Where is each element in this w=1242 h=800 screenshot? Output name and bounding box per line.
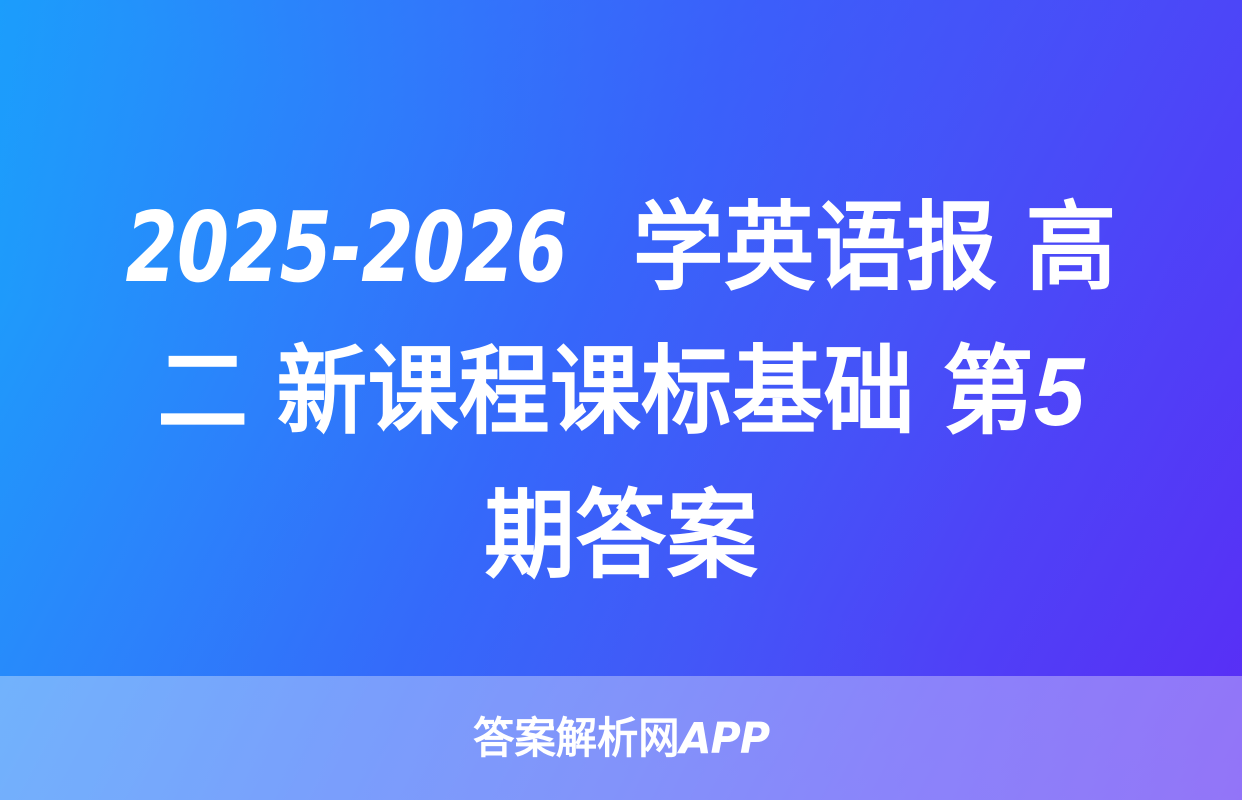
poster-title-block: 2025-2026学英语报高 二新课程课标基础第5 期答案 [0,176,1242,608]
title-line-2: 二新课程课标基础第5 [65,320,1178,464]
title-line-1: 2025-2026学英语报高 [65,176,1178,320]
title-grade-part-1: 高 [1026,176,1117,320]
footer-brand-band: 答案解析网APP [0,676,1242,800]
footer-brand-text: 答案解析网APP [473,718,769,761]
title-year-range: 2025-2026 [125,176,566,320]
footer-brand-name: 答案解析网 [473,715,679,763]
title-content-type: 期答案 [484,464,757,608]
answer-poster-canvas: 2025-2026学英语报高 二新课程课标基础第5 期答案 答案解析网APP [0,0,1242,800]
title-issue-number: 第5 [943,320,1085,464]
title-edition: 新课程课标基础 [276,320,914,464]
title-line-3: 期答案 [65,464,1178,608]
title-publication: 学英语报 [633,176,998,320]
footer-brand-app-label: APP [679,714,769,764]
title-grade-part-2: 二 [157,320,248,464]
